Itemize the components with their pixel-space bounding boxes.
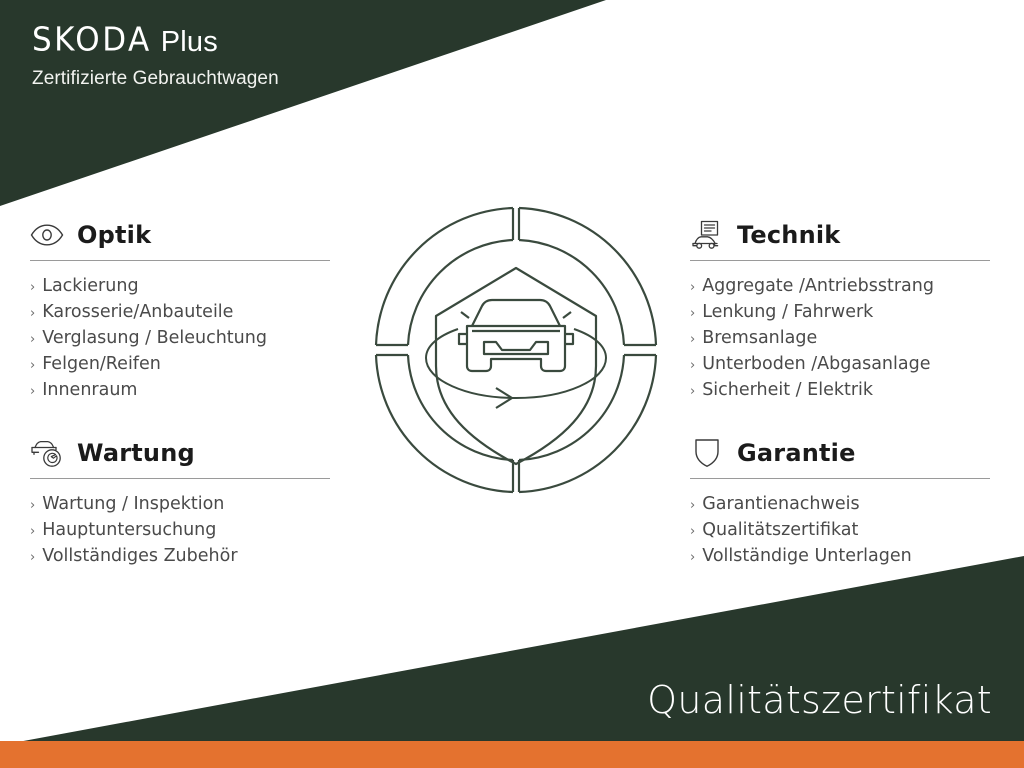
list-item-label: Hauptuntersuchung <box>42 518 216 543</box>
list-item-label: Aggregate /Antriebsstrang <box>702 274 934 299</box>
qualitaetszertifikat-page: SKODA Plus Zertifizierte Gebrauchtwagen … <box>0 0 1024 768</box>
chevron-right-icon: › <box>30 301 35 326</box>
list-item: ›Innenraum <box>30 378 332 404</box>
section-technik: Technik ›Aggregate /Antriebsstrang ›Lenk… <box>690 216 992 404</box>
list-item: ›Garantienachweis <box>690 492 992 518</box>
chevron-right-icon: › <box>30 379 35 404</box>
section-header-technik: Technik <box>690 216 992 254</box>
car-wrench-icon <box>30 437 64 469</box>
section-title-wartung: Wartung <box>77 439 195 467</box>
list-item-label: Qualitätszertifikat <box>702 518 858 543</box>
emblem-shield <box>436 268 596 464</box>
list-item: ›Felgen/Reifen <box>30 352 332 378</box>
list-item-label: Wartung / Inspektion <box>42 492 224 517</box>
chevron-right-icon: › <box>30 353 35 378</box>
section-header-wartung: Wartung <box>30 434 332 472</box>
chevron-right-icon: › <box>690 493 695 518</box>
list-item: ›Hauptuntersuchung <box>30 518 332 544</box>
list-item-label: Felgen/Reifen <box>42 352 161 377</box>
chevron-right-icon: › <box>30 545 35 570</box>
list-item-label: Verglasung / Beleuchtung <box>42 326 267 351</box>
item-list-wartung: ›Wartung / Inspektion ›Hauptuntersuchung… <box>30 492 332 570</box>
orange-accent-bar <box>0 741 1024 768</box>
section-divider-wartung <box>30 478 330 479</box>
chevron-right-icon: › <box>690 353 695 378</box>
chevron-right-icon: › <box>690 545 695 570</box>
chevron-right-icon: › <box>690 301 695 326</box>
list-item: ›Karosserie/Anbauteile <box>30 300 332 326</box>
list-item: ›Sicherheit / Elektrik <box>690 378 992 404</box>
chevron-right-icon: › <box>690 275 695 300</box>
section-wartung: Wartung ›Wartung / Inspektion ›Hauptunte… <box>30 434 332 570</box>
section-divider-optik <box>30 260 330 261</box>
chevron-right-icon: › <box>30 519 35 544</box>
list-item-label: Sicherheit / Elektrik <box>702 378 873 403</box>
section-optik: Optik ›Lackierung ›Karosserie/Anbauteile… <box>30 216 332 404</box>
list-item: ›Vollständiges Zubehör <box>30 544 332 570</box>
chevron-right-icon: › <box>30 327 35 352</box>
section-divider-technik <box>690 260 990 261</box>
chevron-right-icon: › <box>690 519 695 544</box>
brand-block: SKODA Plus Zertifizierte Gebrauchtwagen <box>32 26 279 88</box>
list-item: ›Unterboden /Abgasanlage <box>690 352 992 378</box>
list-item-label: Karosserie/Anbauteile <box>42 300 233 325</box>
section-header-garantie: Garantie <box>690 434 992 472</box>
brand-lockup: SKODA Plus <box>32 26 279 60</box>
list-item: ›Bremsanlage <box>690 326 992 352</box>
list-item: ›Vollständige Unterlagen <box>690 544 992 570</box>
section-title-technik: Technik <box>737 221 840 249</box>
chevron-right-icon: › <box>30 275 35 300</box>
item-list-technik: ›Aggregate /Antriebsstrang ›Lenkung / Fa… <box>690 274 992 404</box>
chevron-right-icon: › <box>690 327 695 352</box>
eye-icon <box>30 219 64 251</box>
item-list-optik: ›Lackierung ›Karosserie/Anbauteile ›Verg… <box>30 274 332 404</box>
page-title: Qualitätszertifikat <box>647 678 992 722</box>
list-item: ›Lenkung / Fahrwerk <box>690 300 992 326</box>
section-title-optik: Optik <box>77 221 151 249</box>
list-item-label: Vollständige Unterlagen <box>702 544 912 569</box>
car-document-icon <box>690 219 724 251</box>
plus-wordmark: Plus <box>161 28 218 57</box>
list-item-label: Lackierung <box>42 274 138 299</box>
list-item: ›Lackierung <box>30 274 332 300</box>
list-item: ›Verglasung / Beleuchtung <box>30 326 332 352</box>
list-item-label: Unterboden /Abgasanlage <box>702 352 930 377</box>
chevron-right-icon: › <box>690 379 695 404</box>
list-item: ›Wartung / Inspektion <box>30 492 332 518</box>
orbit-path <box>426 329 606 408</box>
skoda-wordmark: SKODA <box>32 24 152 57</box>
brand-tagline: Zertifizierte Gebrauchtwagen <box>32 69 279 88</box>
section-garantie: Garantie ›Garantienachweis ›Qualitätszer… <box>690 434 992 570</box>
car-front-icon <box>459 300 573 371</box>
list-item-label: Garantienachweis <box>702 492 859 517</box>
list-item: ›Qualitätszertifikat <box>690 518 992 544</box>
list-item-label: Bremsanlage <box>702 326 817 351</box>
section-title-garantie: Garantie <box>737 439 856 467</box>
chevron-right-icon: › <box>30 493 35 518</box>
list-item-label: Lenkung / Fahrwerk <box>702 300 873 325</box>
list-item-label: Innenraum <box>42 378 137 403</box>
section-header-optik: Optik <box>30 216 332 254</box>
shield-icon <box>690 437 724 469</box>
item-list-garantie: ›Garantienachweis ›Qualitätszertifikat ›… <box>690 492 992 570</box>
section-divider-garantie <box>690 478 990 479</box>
list-item-label: Vollständiges Zubehör <box>42 544 237 569</box>
list-item: ›Aggregate /Antriebsstrang <box>690 274 992 300</box>
shield-car-orbit-emblem <box>368 200 664 500</box>
